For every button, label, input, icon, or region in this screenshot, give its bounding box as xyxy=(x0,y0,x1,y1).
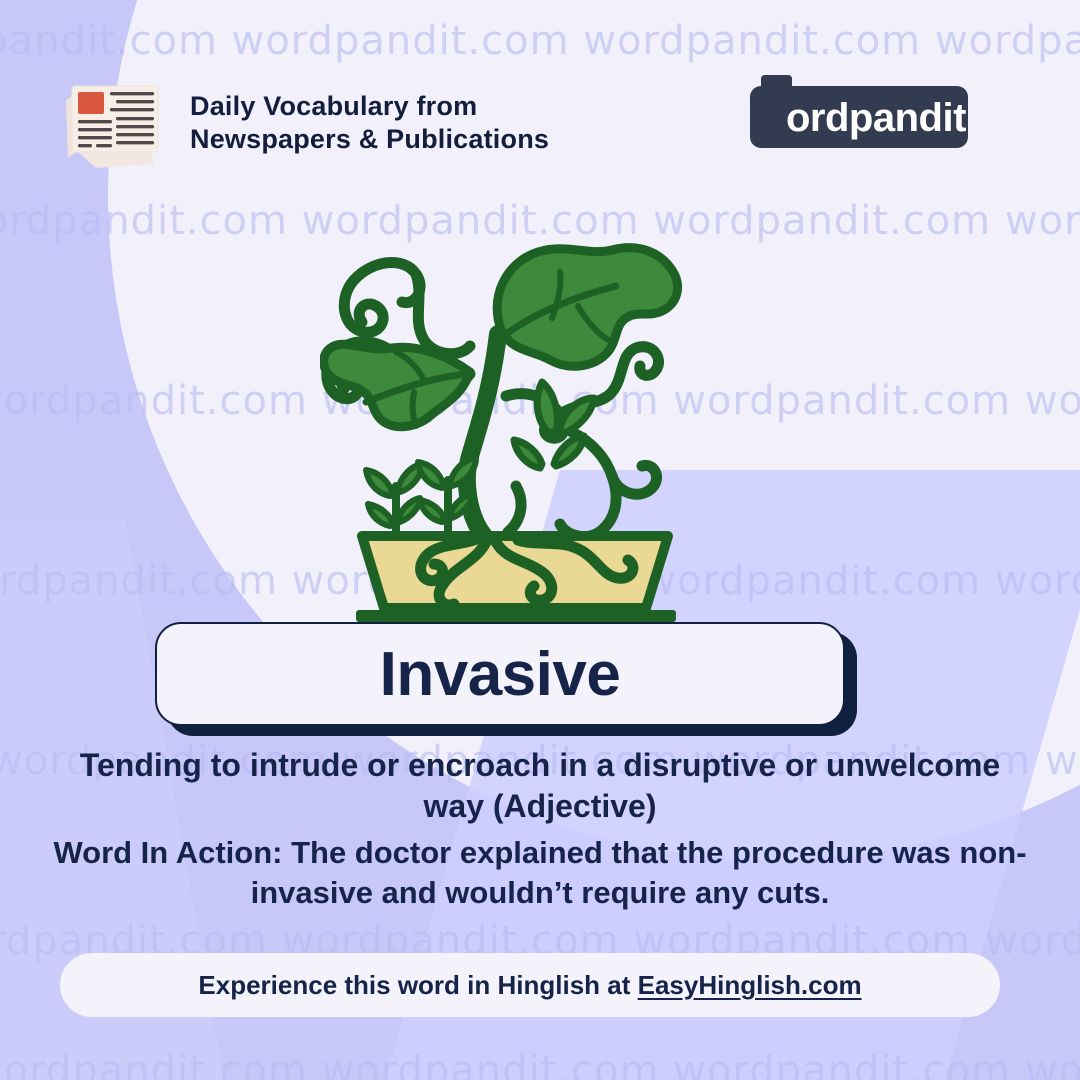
newspaper-icon xyxy=(58,72,170,168)
word-definition: Tending to intrude or encroach in a disr… xyxy=(60,745,1020,826)
word-card: Invasive xyxy=(155,622,845,726)
brand-name-label: ordpandit xyxy=(786,96,966,140)
easyhinglish-link[interactable]: EasyHinglish.com xyxy=(638,970,862,1000)
card-header: Daily Vocabulary from Newspapers & Publi… xyxy=(0,0,1080,190)
page-title: Daily Vocabulary from Newspapers & Publi… xyxy=(190,90,549,156)
word-card-surface: Invasive xyxy=(155,622,845,726)
word-in-action-sentence: Word In Action: The doctor explained tha… xyxy=(30,833,1050,914)
vocabulary-word: Invasive xyxy=(380,639,621,710)
leaf-left xyxy=(324,344,470,426)
invasive-vine-plant-illustration xyxy=(320,236,710,630)
header-title-line-2: Newspapers & Publications xyxy=(190,123,549,156)
hinglish-cta-text: Experience this word in Hinglish at Easy… xyxy=(198,970,861,1001)
hinglish-cta-banner[interactable]: Experience this word in Hinglish at Easy… xyxy=(60,953,1000,1017)
header-title-line-1: Daily Vocabulary from xyxy=(190,90,549,123)
hinglish-cta-prefix: Experience this word in Hinglish at xyxy=(198,970,637,1000)
vocabulary-card: wordpandit.com wordpandit.com wordpandit… xyxy=(0,0,1080,1080)
